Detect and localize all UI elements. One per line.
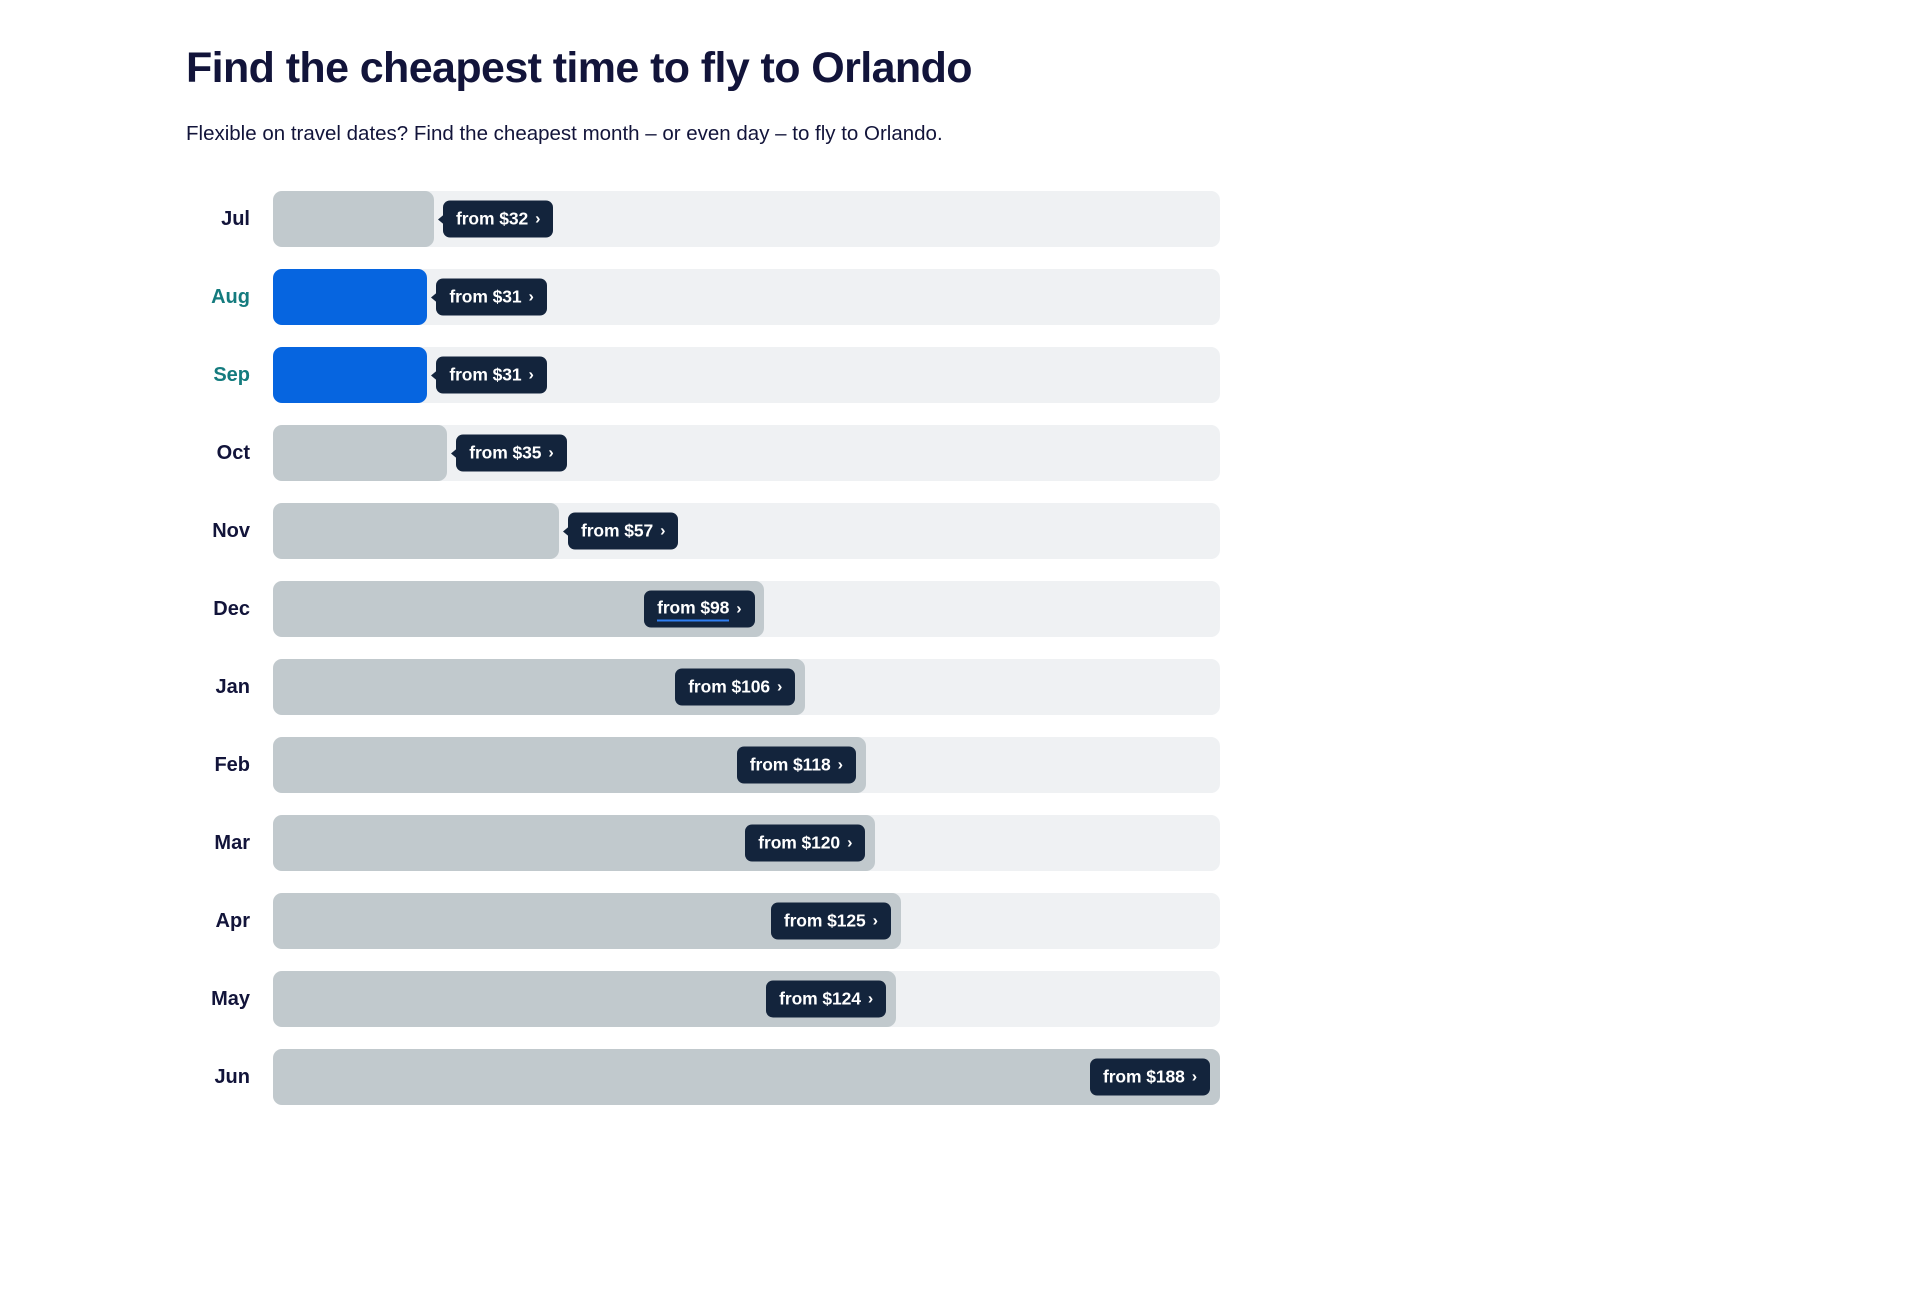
month-label-apr: Apr bbox=[186, 910, 250, 933]
month-label-oct: Oct bbox=[186, 442, 250, 465]
month-label-jul: Jul bbox=[186, 208, 250, 231]
chevron-right-icon: › bbox=[660, 523, 665, 539]
price-pill-label: from $32 bbox=[456, 209, 528, 230]
chevron-right-icon: › bbox=[1192, 1069, 1197, 1085]
month-label-aug: Aug bbox=[186, 286, 250, 309]
month-row[interactable]: Mayfrom $124› bbox=[186, 964, 1220, 1034]
price-pill-label: from $106 bbox=[688, 677, 770, 698]
page-title: Find the cheapest time to fly to Orlando bbox=[186, 44, 1920, 93]
month-row[interactable]: Julfrom $32› bbox=[186, 184, 1220, 254]
pill-pointer-icon bbox=[431, 370, 437, 380]
month-label-may: May bbox=[186, 988, 250, 1011]
bar-track-wrapper: from $106› bbox=[273, 659, 1220, 715]
price-bar-oct bbox=[273, 425, 447, 481]
month-row[interactable]: Decfrom $98› bbox=[186, 574, 1220, 644]
price-pill-aug[interactable]: from $31› bbox=[436, 279, 546, 316]
chevron-right-icon: › bbox=[736, 601, 741, 617]
price-pill-label: from $98 bbox=[657, 597, 729, 621]
bar-track-wrapper: from $32› bbox=[273, 191, 1220, 247]
price-pill-label: from $35 bbox=[469, 443, 541, 464]
month-label-dec: Dec bbox=[186, 598, 250, 621]
price-bar-aug bbox=[273, 269, 427, 325]
price-pill-label: from $57 bbox=[581, 521, 653, 542]
month-label-feb: Feb bbox=[186, 754, 250, 777]
month-row[interactable]: Novfrom $57› bbox=[186, 496, 1220, 566]
price-pill-oct[interactable]: from $35› bbox=[456, 435, 566, 472]
month-row[interactable]: Augfrom $31› bbox=[186, 262, 1220, 332]
month-row[interactable]: Aprfrom $125› bbox=[186, 886, 1220, 956]
pill-pointer-icon bbox=[438, 214, 444, 224]
pill-pointer-icon bbox=[563, 526, 569, 536]
month-label-nov: Nov bbox=[186, 520, 250, 543]
price-pill-label: from $31 bbox=[449, 287, 521, 308]
price-bar-jun bbox=[273, 1049, 1220, 1105]
bar-track-wrapper: from $125› bbox=[273, 893, 1220, 949]
price-pill-feb[interactable]: from $118› bbox=[737, 747, 856, 784]
price-bar-jul bbox=[273, 191, 434, 247]
month-row[interactable]: Janfrom $106› bbox=[186, 652, 1220, 722]
chevron-right-icon: › bbox=[847, 835, 852, 851]
month-label-jan: Jan bbox=[186, 676, 250, 699]
bar-track-wrapper: from $35› bbox=[273, 425, 1220, 481]
bar-track-wrapper: from $31› bbox=[273, 269, 1220, 325]
price-pill-dec[interactable]: from $98› bbox=[644, 591, 754, 628]
chevron-right-icon: › bbox=[529, 367, 534, 383]
bar-track-wrapper: from $120› bbox=[273, 815, 1220, 871]
content-container: Find the cheapest time to fly to Orlando… bbox=[0, 0, 1920, 1112]
price-pill-label: from $124 bbox=[779, 989, 861, 1010]
chevron-right-icon: › bbox=[548, 445, 553, 461]
price-bar-nov bbox=[273, 503, 559, 559]
price-pill-jan[interactable]: from $106› bbox=[675, 669, 795, 706]
price-pill-may[interactable]: from $124› bbox=[766, 981, 886, 1018]
price-bar-sep bbox=[273, 347, 427, 403]
month-row[interactable]: Febfrom $118› bbox=[186, 730, 1220, 800]
month-row[interactable]: Octfrom $35› bbox=[186, 418, 1220, 488]
month-row[interactable]: Sepfrom $31› bbox=[186, 340, 1220, 410]
bar-track-wrapper: from $124› bbox=[273, 971, 1220, 1027]
chevron-right-icon: › bbox=[529, 289, 534, 305]
chevron-right-icon: › bbox=[873, 913, 878, 929]
price-pill-label: from $188 bbox=[1103, 1067, 1185, 1088]
bar-track-wrapper: from $31› bbox=[273, 347, 1220, 403]
cheapest-time-to-fly-panel: Find the cheapest time to fly to Orlando… bbox=[0, 0, 1920, 1310]
pill-pointer-icon bbox=[431, 292, 437, 302]
chevron-right-icon: › bbox=[535, 211, 540, 227]
chevron-right-icon: › bbox=[838, 757, 843, 773]
bar-track-wrapper: from $57› bbox=[273, 503, 1220, 559]
price-pill-label: from $125 bbox=[784, 911, 866, 932]
month-label-jun: Jun bbox=[186, 1066, 250, 1089]
month-row[interactable]: Marfrom $120› bbox=[186, 808, 1220, 878]
price-pill-label: from $31 bbox=[449, 365, 521, 386]
price-pill-jul[interactable]: from $32› bbox=[443, 201, 553, 238]
monthly-price-chart: Julfrom $32›Augfrom $31›Sepfrom $31›Octf… bbox=[186, 184, 1220, 1112]
price-pill-label: from $120 bbox=[758, 833, 840, 854]
month-row[interactable]: Junfrom $188› bbox=[186, 1042, 1220, 1112]
chevron-right-icon: › bbox=[868, 991, 873, 1007]
pill-pointer-icon bbox=[451, 448, 457, 458]
month-label-sep: Sep bbox=[186, 364, 250, 387]
bar-track-wrapper: from $118› bbox=[273, 737, 1220, 793]
price-pill-sep[interactable]: from $31› bbox=[436, 357, 546, 394]
month-label-mar: Mar bbox=[186, 832, 250, 855]
page-subtitle: Flexible on travel dates? Find the cheap… bbox=[186, 121, 1920, 148]
bar-track-wrapper: from $188› bbox=[273, 1049, 1220, 1105]
bar-track-wrapper: from $98› bbox=[273, 581, 1220, 637]
price-pill-apr[interactable]: from $125› bbox=[771, 903, 891, 940]
chevron-right-icon: › bbox=[777, 679, 782, 695]
price-pill-label: from $118 bbox=[750, 755, 831, 776]
price-pill-jun[interactable]: from $188› bbox=[1090, 1059, 1210, 1096]
price-pill-nov[interactable]: from $57› bbox=[568, 513, 678, 550]
price-pill-mar[interactable]: from $120› bbox=[745, 825, 865, 862]
